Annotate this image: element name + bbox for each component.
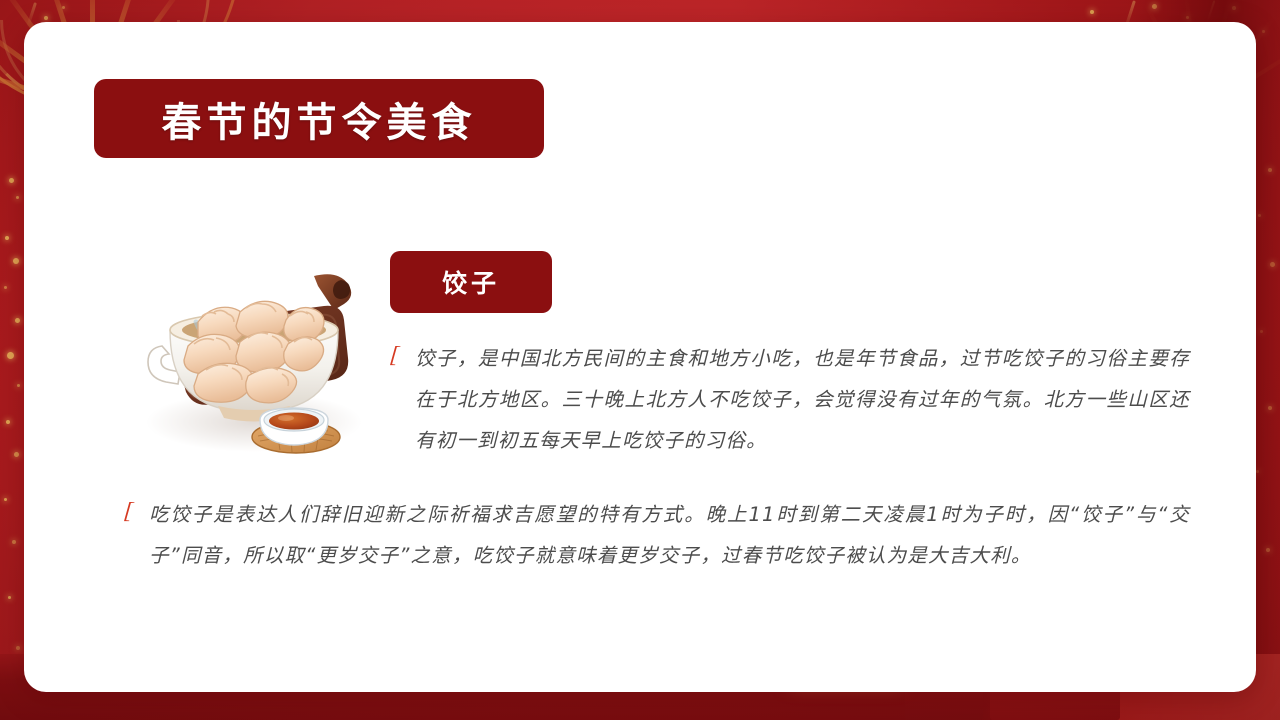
paragraph-dumpling-meaning: [ 吃饺子是表达人们辞旧迎新之际祈福求吉愿望的特有方式。晚上11时到第二天凌晨1… <box>124 494 1190 576</box>
paragraph-text: 饺子，是中国北方民间的主食和地方小吃，也是年节食品，过节吃饺子的习俗主要存在于北… <box>415 338 1190 461</box>
paragraph-text: 吃饺子是表达人们辞旧迎新之际祈福求吉愿望的特有方式。晚上11时到第二天凌晨1时为… <box>149 494 1190 576</box>
slide-canvas: 春节的节令美食 <box>0 0 1280 720</box>
bullet-marker-icon: [ <box>123 494 135 522</box>
section-badge: 饺子 <box>390 251 552 313</box>
bowl-of-dumplings-illustration <box>136 250 382 466</box>
page-title: 春节的节令美食 <box>162 90 477 148</box>
page-title-badge: 春节的节令美食 <box>94 79 544 158</box>
bullet-marker-icon: [ <box>389 338 401 366</box>
section-badge-label: 饺子 <box>442 264 500 300</box>
paragraph-dumpling-intro: [ 饺子，是中国北方民间的主食和地方小吃，也是年节食品，过节吃饺子的习俗主要存在… <box>390 338 1190 461</box>
content-card: 春节的节令美食 <box>24 22 1256 692</box>
